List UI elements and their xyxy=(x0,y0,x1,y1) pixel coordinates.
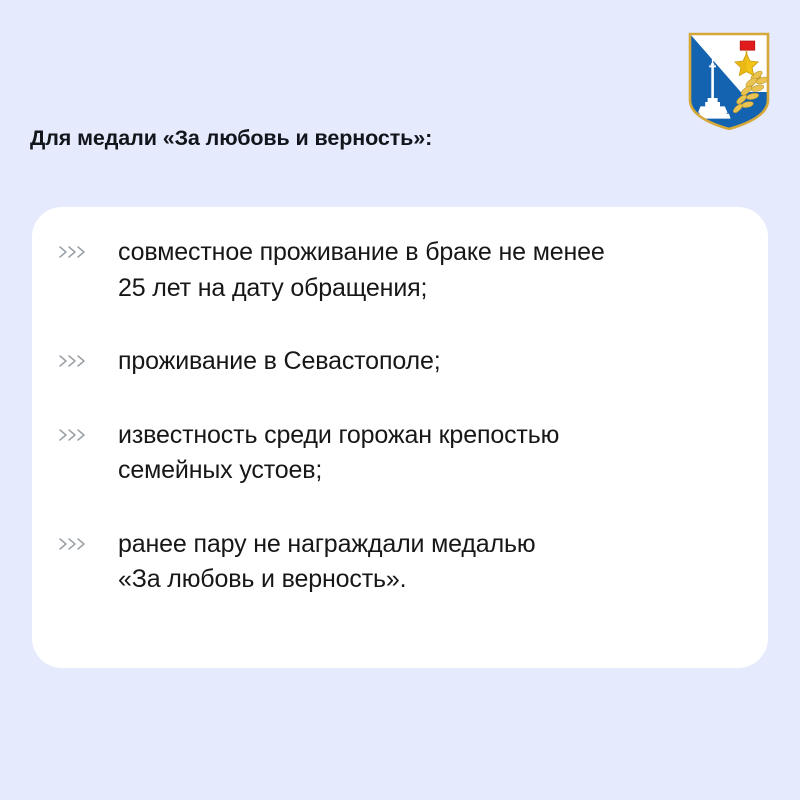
page-title: Для медали «За любовь и верность»: xyxy=(30,126,432,151)
triple-chevron-right-icon xyxy=(58,344,104,369)
list-item-text: известность среди горожан крепостью семе… xyxy=(118,418,734,489)
list-item-text: проживание в Севастополе; xyxy=(118,344,734,380)
list-item-line: ранее пару не награждали медалью xyxy=(118,527,734,563)
triple-chevron-right-icon xyxy=(58,527,104,552)
coat-of-arms-of-sevastopol-icon xyxy=(684,30,774,130)
list-item-line: 25 лет на дату обращения; xyxy=(118,271,734,307)
list-item-line: известность среди горожан крепостью xyxy=(118,418,734,454)
list-item: совместное проживание в браке не менее 2… xyxy=(58,235,734,306)
triple-chevron-right-icon xyxy=(58,235,104,260)
poster-root: Для медали «За любовь и верность»: совме… xyxy=(0,0,800,800)
requirements-list: совместное проживание в браке не менее 2… xyxy=(58,235,734,598)
list-item-line: семейных устоев; xyxy=(118,453,734,489)
list-item-line: «За любовь и верность». xyxy=(118,562,734,598)
list-item: проживание в Севастополе; xyxy=(58,344,734,380)
requirements-card: совместное проживание в браке не менее 2… xyxy=(32,207,768,668)
list-item-text: совместное проживание в браке не менее 2… xyxy=(118,235,734,306)
list-item: известность среди горожан крепостью семе… xyxy=(58,418,734,489)
list-item: ранее пару не награждали медалью «За люб… xyxy=(58,527,734,598)
list-item-line: совместное проживание в браке не менее xyxy=(118,235,734,271)
list-item-line: проживание в Севастополе; xyxy=(118,344,734,380)
triple-chevron-right-icon xyxy=(58,418,104,443)
list-item-text: ранее пару не награждали медалью «За люб… xyxy=(118,527,734,598)
